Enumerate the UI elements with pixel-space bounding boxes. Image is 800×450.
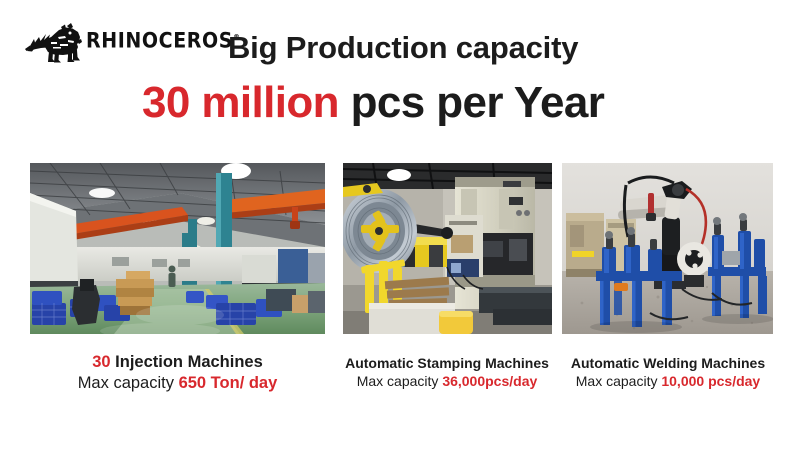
automatic-welding-machine-photo bbox=[562, 163, 773, 334]
brand-wordmark: RHINOCEROS® bbox=[86, 30, 241, 51]
caption-1-count: 30 bbox=[92, 353, 110, 371]
caption-2-line1: Automatic Stamping Machines bbox=[337, 355, 557, 373]
caption-welding-machines: Automatic Welding Machines Max capacity … bbox=[557, 355, 779, 391]
photo-gallery bbox=[0, 163, 800, 334]
caption-3-capacity-value: 10,000 pcs/day bbox=[661, 373, 760, 389]
headline-quantity: 30 million bbox=[142, 78, 339, 127]
caption-1-line2: Max capacity 650 Ton/ day bbox=[30, 373, 325, 394]
caption-injection-machines: 30 Injection Machines Max capacity 650 T… bbox=[30, 352, 325, 394]
brand-wordmark-text: RHINOCEROS bbox=[86, 28, 233, 53]
rhinoceros-logo-icon bbox=[24, 19, 82, 63]
caption-3-line1: Automatic Welding Machines bbox=[557, 355, 779, 373]
caption-1-capacity-label: Max capacity bbox=[78, 374, 179, 392]
caption-3-capacity-label: Max capacity bbox=[576, 373, 662, 389]
caption-2-title: Automatic Stamping Machines bbox=[345, 355, 549, 371]
caption-stamping-machines: Automatic Stamping Machines Max capacity… bbox=[337, 355, 557, 391]
injection-molding-factory-photo bbox=[30, 163, 325, 334]
presentation-slide: RHINOCEROS® Big Production capacity 30 m… bbox=[0, 0, 800, 450]
automatic-stamping-machine-photo bbox=[343, 163, 552, 334]
caption-2-capacity-label: Max capacity bbox=[357, 373, 443, 389]
caption-2-capacity-value: 36,000pcs/day bbox=[442, 373, 537, 389]
headline-unit: pcs per Year bbox=[339, 78, 604, 127]
brand-logo: RHINOCEROS® bbox=[24, 18, 204, 64]
caption-1-capacity-value: 650 Ton/ day bbox=[179, 374, 278, 392]
caption-3-title: Automatic Welding Machines bbox=[571, 355, 765, 371]
headline-secondary: 30 million pcs per Year bbox=[142, 78, 604, 128]
headline-primary: Big Production capacity bbox=[228, 30, 578, 66]
caption-3-line2: Max capacity 10,000 pcs/day bbox=[557, 373, 779, 391]
caption-1-line1: 30 Injection Machines bbox=[30, 352, 325, 373]
caption-1-title: Injection Machines bbox=[111, 353, 263, 371]
caption-2-line2: Max capacity 36,000pcs/day bbox=[337, 373, 557, 391]
